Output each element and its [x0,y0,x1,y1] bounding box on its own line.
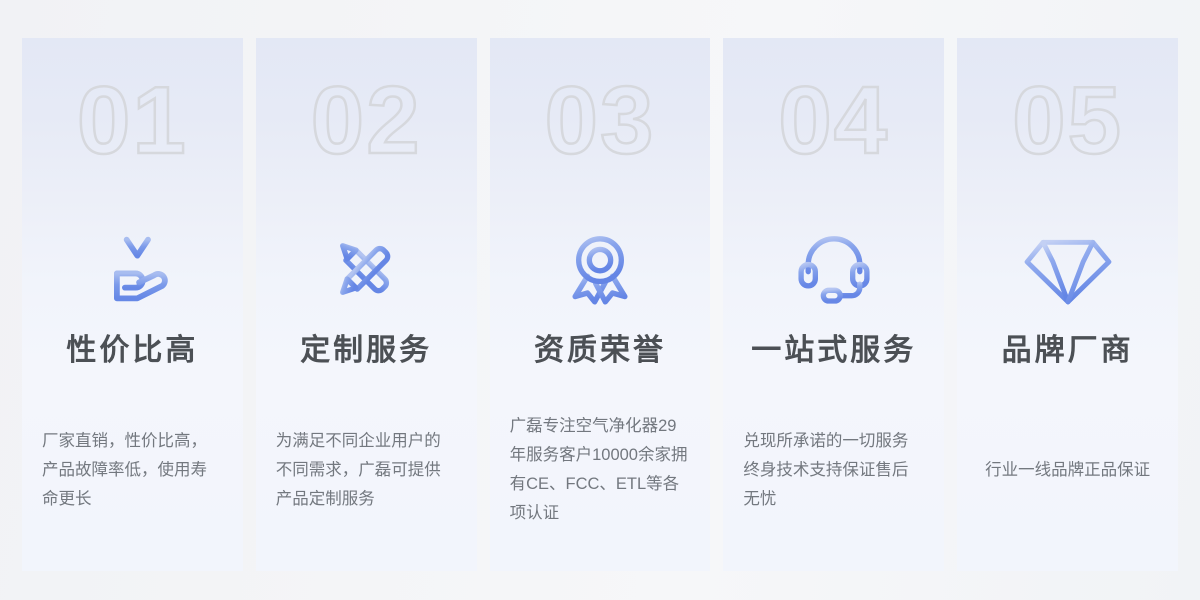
card-description: 广磊专注空气净化器29年服务客户10000余家拥有CE、FCC、ETL等各项认证 [510,412,691,528]
card-description-wrap: 行业一线品牌正品保证 [977,369,1158,571]
feature-card-3[interactable]: 03 [490,38,711,571]
card-description: 兑现所承诺的一切服务终身技术支持保证售后无忧 [743,427,924,514]
card-index-number: 03 [545,68,656,174]
card-description: 行业一线品牌正品保证 [977,456,1158,485]
diamond-icon [1022,229,1114,309]
feature-card-2[interactable]: 02 [256,38,477,571]
card-index-number: 01 [77,68,188,174]
feature-cards-section: 01 [0,0,1200,600]
card-title: 品牌厂商 [1002,325,1134,369]
headset-icon [788,229,880,309]
crossed-pencils-icon [320,229,412,309]
card-description-wrap: 为满足不同企业用户的不同需求，广磊可提供产品定制服务 [276,369,457,571]
card-title: 资质荣誉 [534,325,666,369]
card-description-wrap: 兑现所承诺的一切服务终身技术支持保证售后无忧 [743,369,924,571]
feature-card-5[interactable]: 05 品牌厂商 行 [957,38,1178,571]
card-description: 厂家直销，性价比高，产品故障率低，使用寿命更长 [42,427,223,514]
card-title: 定制服务 [300,325,432,369]
card-description-wrap: 厂家直销，性价比高，产品故障率低，使用寿命更长 [42,369,223,571]
feature-card-4[interactable]: 04 [723,38,944,571]
card-description-wrap: 广磊专注空气净化器29年服务客户10000余家拥有CE、FCC、ETL等各项认证 [510,369,691,571]
award-medal-icon [554,229,646,309]
feature-card-1[interactable]: 01 [22,38,243,571]
card-title: 一站式服务 [751,325,916,369]
hand-holding-yuan-icon [86,229,178,309]
card-index-number: 02 [311,68,422,174]
card-description: 为满足不同企业用户的不同需求，广磊可提供产品定制服务 [276,427,457,514]
card-index-number: 05 [1012,68,1123,174]
card-index-number: 04 [778,68,889,174]
card-title: 性价比高 [66,325,198,369]
